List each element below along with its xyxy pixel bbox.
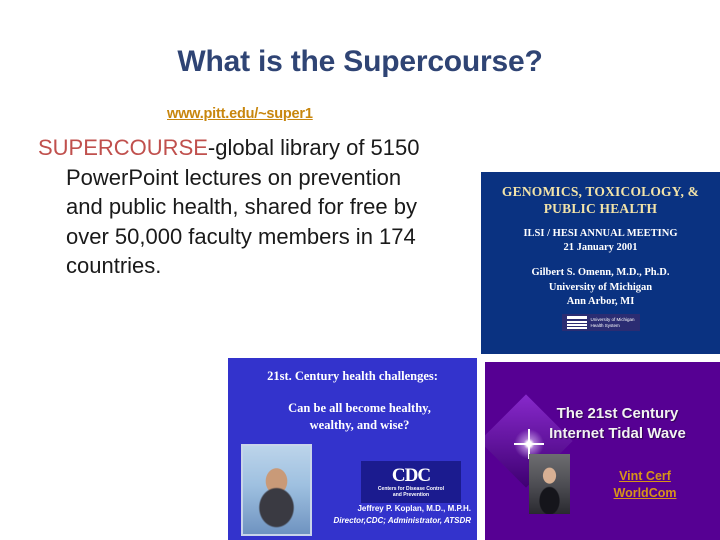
tidal-wave-title: The 21st Century Internet Tidal Wave bbox=[525, 404, 710, 444]
cdc-logo-tagline: Centers for Disease Control and Preventi… bbox=[378, 486, 444, 499]
page-title: What is the Supercourse? bbox=[0, 45, 720, 78]
cdc-logo-wordmark: CDC bbox=[392, 466, 430, 486]
university-of-michigan-logo-text: University of Michigan Health System bbox=[590, 317, 634, 329]
michigan-block-m-icon bbox=[566, 316, 586, 329]
university-of-michigan-logo: University of Michigan Health System bbox=[561, 314, 639, 331]
cdc-speaker-role: Director,CDC; Administrator, ATSDR bbox=[314, 515, 471, 527]
thumbnail-genomics-slide[interactable]: GENOMICS, TOXICOLOGY, & PUBLIC HEALTH IL… bbox=[481, 172, 720, 354]
cdc-speaker-credit: Jeffrey P. Koplan, M.D., M.P.H. Director… bbox=[314, 503, 471, 526]
genomics-speaker-info: Gilbert S. Omenn, M.D., Ph.D. University… bbox=[489, 266, 712, 310]
genomics-title: GENOMICS, TOXICOLOGY, & PUBLIC HEALTH bbox=[489, 183, 712, 217]
cdc-speaker-name: Jeffrey P. Koplan, M.D., M.P.H. bbox=[314, 503, 471, 515]
tidal-speaker-name: Vint Cerf bbox=[619, 469, 671, 483]
cdc-question: Can be all become healthy, wealthy, and … bbox=[252, 400, 467, 434]
thumbnail-cdc-slide[interactable]: 21st. Century health challenges: Can be … bbox=[228, 358, 477, 540]
genomics-meeting-info: ILSI / HESI ANNUAL MEETING 21 January 20… bbox=[489, 227, 712, 255]
thumbnail-internet-tidal-wave-slide[interactable]: The 21st Century Internet Tidal Wave Vin… bbox=[485, 362, 720, 540]
supercourse-url-link[interactable]: www.pitt.edu/~super1 bbox=[167, 106, 313, 122]
vint-cerf-portrait-photo bbox=[529, 454, 570, 514]
tidal-wave-speaker-credit: Vint Cerf WorldCom bbox=[585, 468, 705, 502]
cdc-logo: CDC Centers for Disease Control and Prev… bbox=[361, 461, 461, 503]
presentation-slide: What is the Supercourse? www.pitt.edu/~s… bbox=[0, 0, 720, 540]
body-paragraph: SUPERCOURSE-global library of 5150 Power… bbox=[38, 133, 438, 281]
speaker-portrait-photo bbox=[241, 444, 312, 536]
tidal-speaker-org: WorldCom bbox=[614, 486, 677, 500]
cdc-heading: 21st. Century health challenges: bbox=[238, 369, 467, 384]
supercourse-keyword: SUPERCOURSE bbox=[38, 135, 208, 160]
